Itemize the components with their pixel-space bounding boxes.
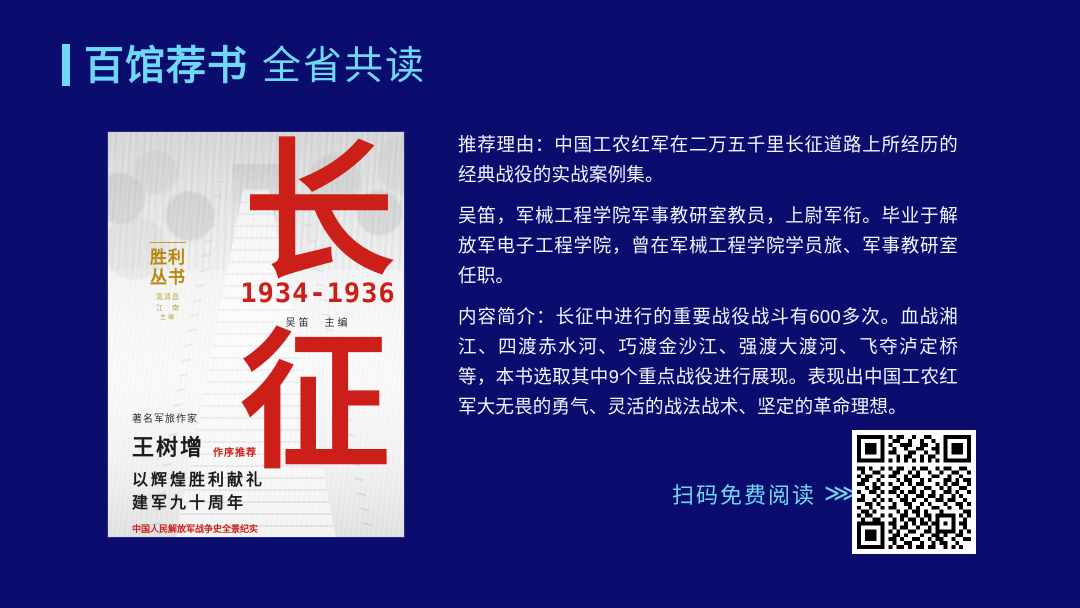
slide-root: 百馆荐书 全省共读 长 1934-1936 吴笛 主编 征 胜利	[0, 0, 1080, 608]
header-accent-bar	[62, 44, 70, 86]
series-editor-1: 寞清昌	[133, 293, 203, 304]
scan-to-read-cta[interactable]: 扫码免费阅读 ⋙	[672, 478, 860, 510]
page-header: 百馆荐书 全省共读	[62, 44, 426, 86]
series-name-line2: 丛书	[133, 268, 203, 288]
series-name-line1: 胜利	[133, 248, 203, 268]
series-editor-2: 江 南	[133, 304, 203, 315]
paragraph-synopsis: 内容简介：长征中进行的重要战役战斗有600多次。血战湘江、四渡赤水河、巧渡金沙江…	[458, 302, 958, 422]
blurb-slogan-line2: 建军九十周年	[132, 492, 332, 515]
blurb-slogan-line1: 以辉煌胜利献礼	[132, 469, 332, 492]
cover-title-char-chang: 长	[244, 138, 394, 288]
cta-label: 扫码免费阅读	[672, 478, 816, 510]
blurb-recommender-name: 王树增	[132, 430, 204, 462]
cover-series-block: 胜利 丛书 寞清昌 江 南 主编	[133, 242, 203, 323]
qr-code[interactable]	[852, 430, 976, 554]
blurb-recommender-tag: 作序推荐	[213, 444, 257, 459]
book-description: 推荐理由：中国工农红军在二万五千里长征道路上所经历的经典战役的实战案例集。 吴笛…	[458, 130, 958, 422]
page-subtitle: 全省共读	[262, 47, 426, 86]
blurb-kicker: 著名军旅作家	[132, 410, 332, 425]
series-editor-role: 主编	[133, 314, 203, 323]
cover-blurb-block: 著名军旅作家 王树增 作序推荐 以辉煌胜利献礼 建军九十周年 中国人民解放军战争…	[132, 410, 332, 537]
blurb-red-line: 中国人民解放军战争史全景纪实	[132, 522, 332, 535]
paragraph-author-bio: 吴笛，军械工程学院军事教研室教员，上尉军衔。毕业于解放军电子工程学院，曾在军械工…	[458, 201, 958, 291]
paragraph-recommendation: 推荐理由：中国工农红军在二万五千里长征道路上所经历的经典战役的实战案例集。	[458, 130, 958, 190]
cover-years: 1934-1936	[238, 278, 398, 309]
book-cover[interactable]: 长 1934-1936 吴笛 主编 征 胜利 丛书 寞清昌 江 南 主编 著名军…	[108, 132, 404, 537]
page-title: 百馆荐书	[84, 46, 248, 86]
series-divider	[150, 242, 186, 243]
